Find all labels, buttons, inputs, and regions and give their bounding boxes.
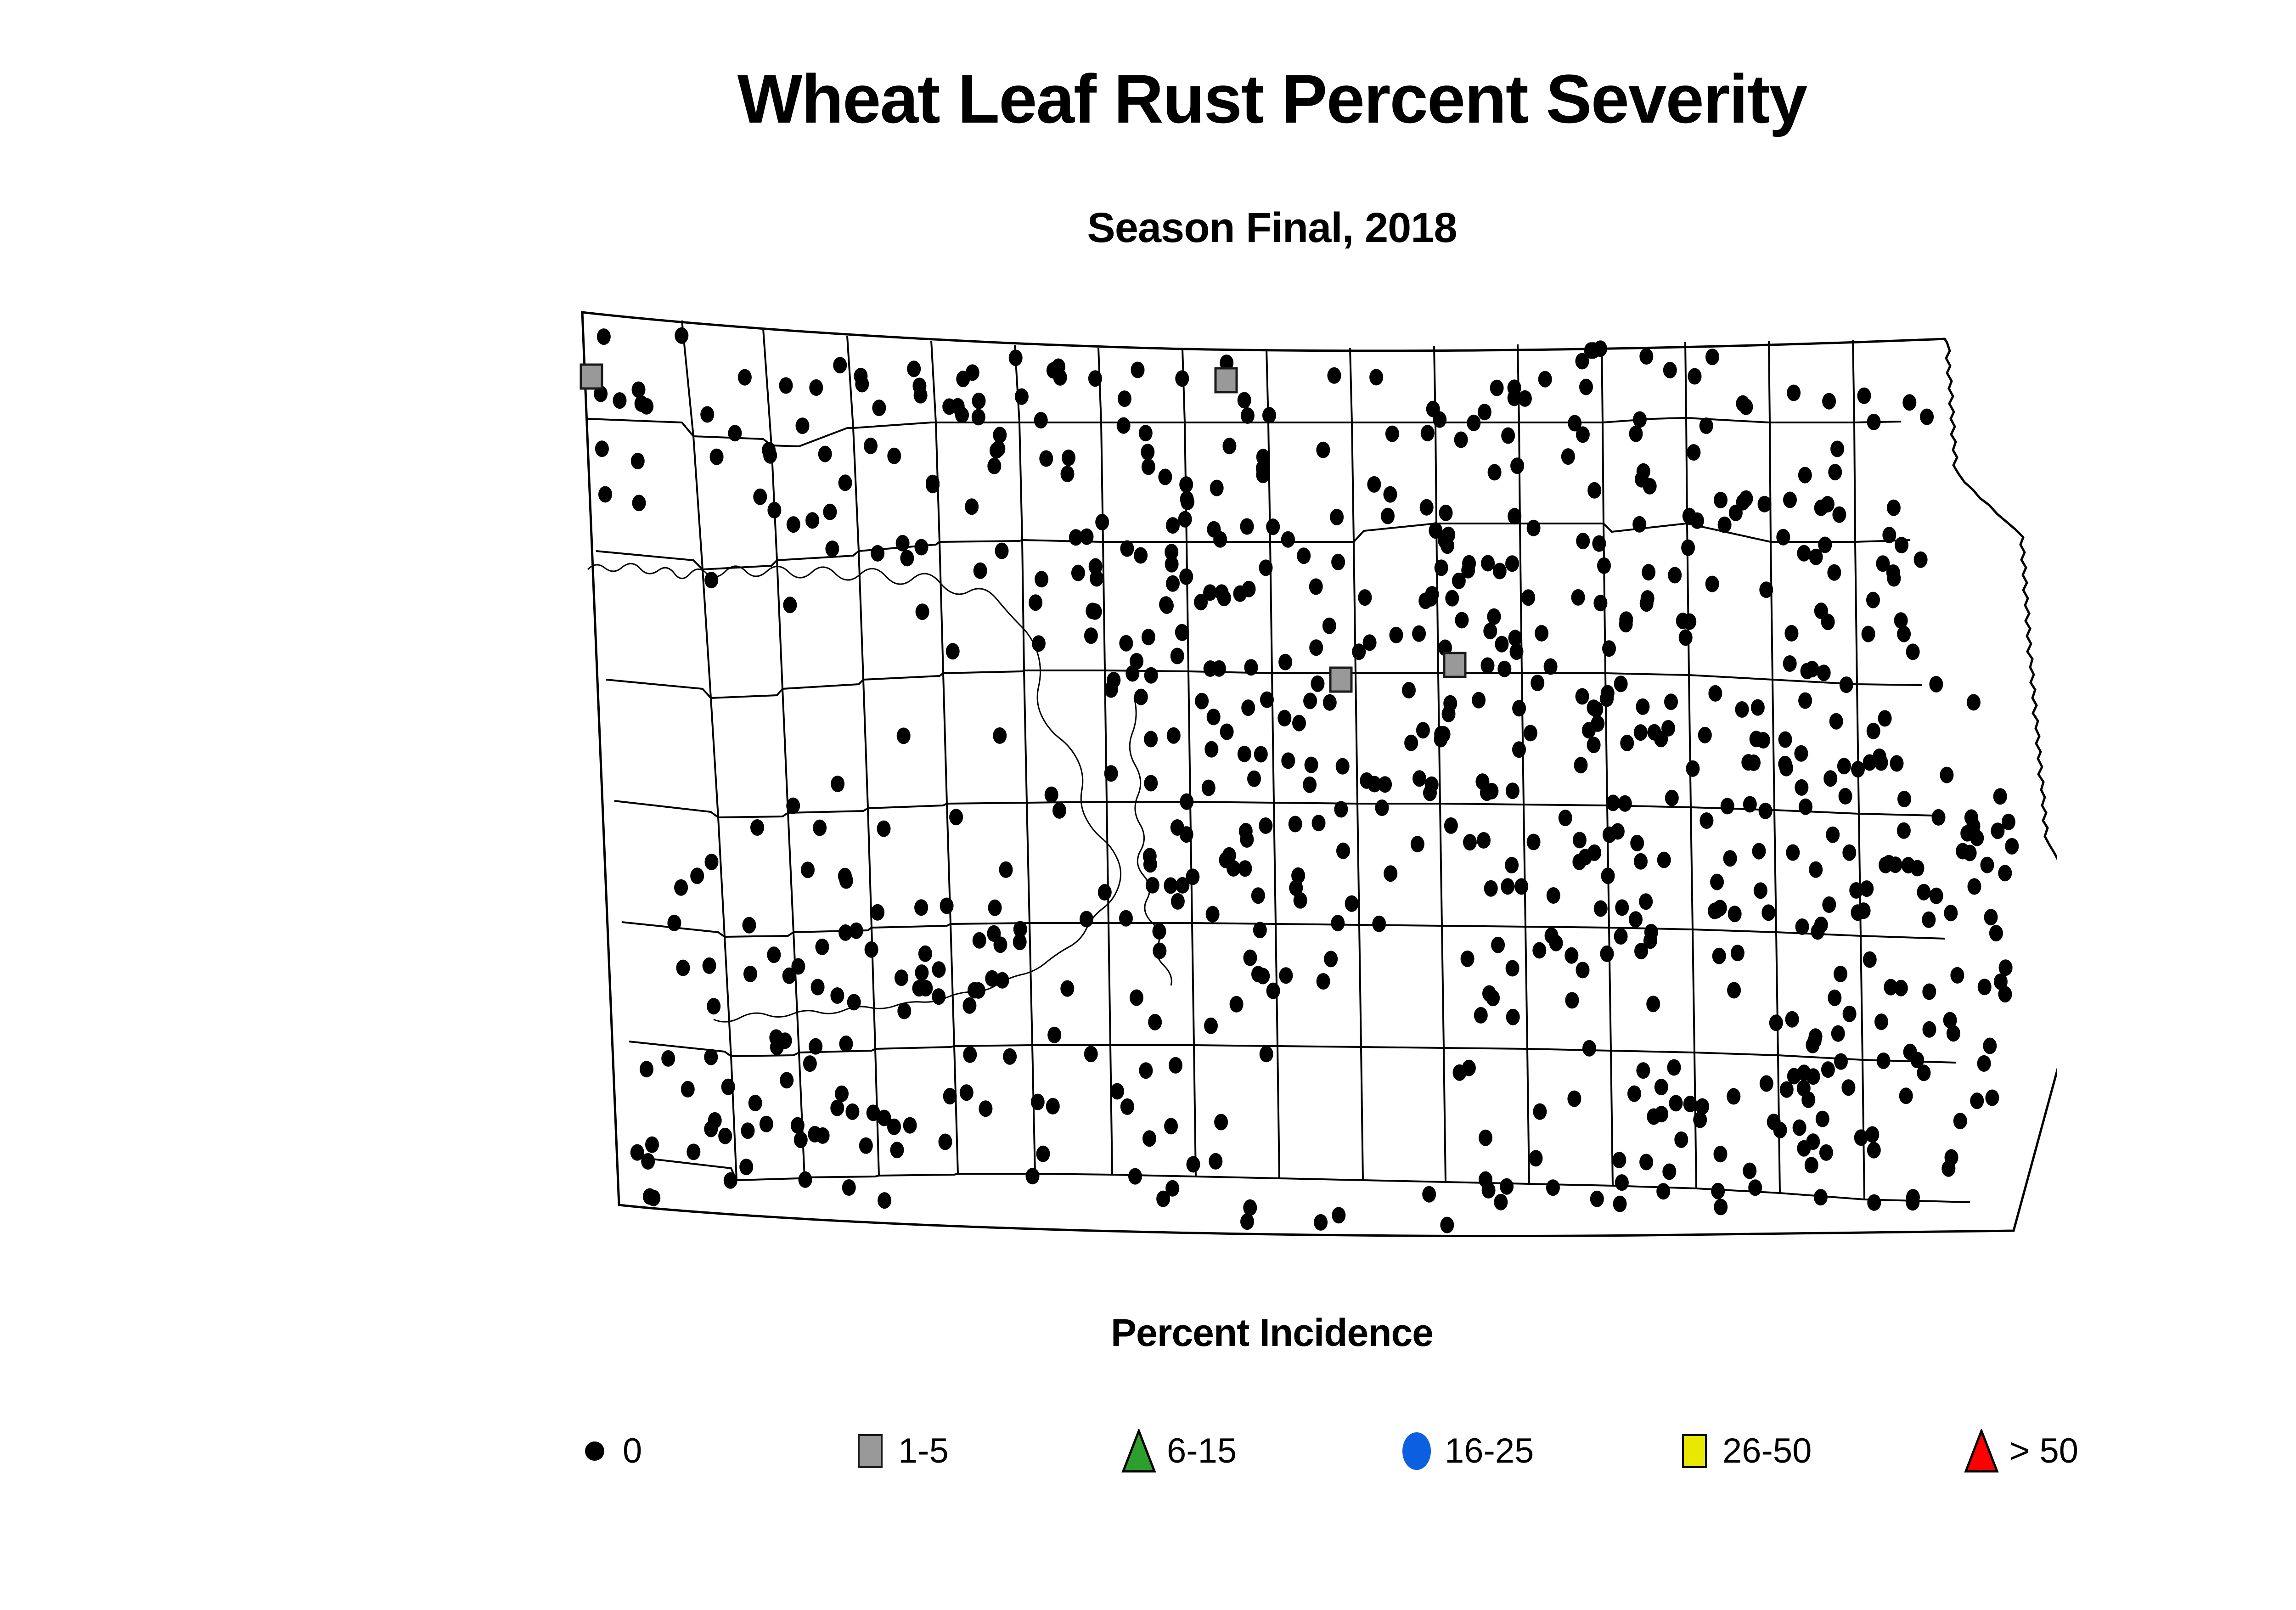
data-point-zero (1559, 810, 1572, 826)
data-point-zero (914, 387, 928, 404)
data-point-zero (1241, 699, 1255, 716)
data-point-zero (1821, 1061, 1835, 1078)
data-point-zero (1834, 1053, 1848, 1070)
data-point-zero (1481, 555, 1495, 572)
data-point-zero (1500, 1178, 1514, 1195)
data-point-zero (973, 932, 986, 949)
data-point-zero (1629, 426, 1643, 442)
data-point-zero (1422, 1186, 1436, 1203)
data-point-zero (1434, 731, 1448, 748)
data-point-zero (1899, 1087, 1913, 1104)
data-point-zero (1521, 589, 1535, 606)
data-point-zero (1627, 1086, 1641, 1102)
data-point-zero (1317, 973, 1330, 990)
data-point-zero (1212, 660, 1226, 677)
data-point-zero (1167, 727, 1181, 744)
data-point-zero (1705, 576, 1719, 592)
data-point-zero (1297, 547, 1311, 564)
data-point-zero (1086, 602, 1099, 619)
data-point-zero (1854, 1129, 1868, 1146)
data-point-zero (1545, 928, 1559, 944)
data-point-zero (791, 958, 805, 975)
data-point-zero (1209, 1153, 1222, 1170)
data-point-zero (632, 495, 646, 511)
data-point-zero (1178, 511, 1192, 528)
data-point-zero (1323, 694, 1337, 711)
data-point-zero (681, 1081, 695, 1098)
data-point-zero (1950, 967, 1964, 984)
data-point-zero (1851, 761, 1865, 777)
data-point-zero (1328, 367, 1341, 384)
data-point-zero (1640, 595, 1654, 612)
data-point-zero (1119, 635, 1133, 652)
data-point-zero (1238, 746, 1251, 762)
data-point-zero (887, 448, 901, 464)
data-point-zero (1303, 777, 1317, 793)
data-point-zero (1906, 1189, 1920, 1205)
data-point-zero (1984, 909, 1998, 925)
data-point-zero (963, 1047, 977, 1063)
data-point-zero (1253, 922, 1267, 938)
data-point-zero (1932, 809, 1946, 826)
data-point-zero (1841, 1079, 1855, 1096)
data-point-zero (1031, 1094, 1045, 1110)
data-point-zero (1472, 692, 1486, 709)
data-point-zero (1731, 945, 1745, 961)
data-point-zero (1587, 482, 1601, 499)
data-point-zero (2002, 814, 2015, 830)
data-point-zero (801, 861, 815, 878)
data-point-zero (767, 502, 781, 518)
data-point-zero (1779, 760, 1793, 777)
data-point-zero (1402, 682, 1416, 698)
data-point-zero (1158, 469, 1172, 485)
data-point-zero (897, 727, 911, 744)
data-point-zero (985, 970, 999, 987)
data-point-zero (1914, 552, 1928, 568)
data-point-zero (1776, 529, 1790, 546)
data-point-zero (1620, 735, 1634, 751)
data-point-zero (1330, 509, 1344, 525)
data-point-zero (1385, 426, 1399, 442)
data-point-zero (1171, 648, 1184, 664)
data-point-zero (595, 440, 609, 457)
data-point-zero (878, 1110, 891, 1126)
data-point-zero (1821, 614, 1835, 630)
data-point-zero (1336, 843, 1350, 859)
data-point-zero (940, 898, 954, 914)
page-subtitle: Season Final, 2018 (0, 207, 2296, 249)
data-point-zero (1482, 1182, 1496, 1199)
data-point-zero (1384, 865, 1397, 882)
data-point-zero (1412, 770, 1426, 787)
data-point-zero (1358, 589, 1372, 606)
data-point-zero (676, 960, 690, 976)
data-point-zero (1711, 1183, 1725, 1199)
data-point-zero (1878, 710, 1892, 726)
data-point-zero (1047, 1027, 1061, 1043)
data-point-zero (1052, 802, 1066, 819)
data-point-zero (1714, 492, 1728, 508)
data-point-zero (1345, 895, 1359, 912)
data-point-zero (675, 327, 688, 344)
data-point-zero (1818, 537, 1832, 553)
data-point-zero (1642, 564, 1655, 580)
data-point-zero (1723, 850, 1737, 867)
legend-symbol-triangle (1961, 1419, 2002, 1483)
data-point-zero (1612, 1152, 1626, 1168)
legend-label: 26-50 (1722, 1434, 1812, 1469)
data-point-zero (1874, 754, 1888, 771)
data-point-zero (1477, 832, 1491, 849)
data-point-1-5 (1216, 368, 1237, 392)
data-point-zero (1705, 349, 1719, 365)
data-point-zero (724, 1172, 737, 1189)
data-point-zero (1708, 685, 1722, 702)
data-point-zero (1281, 752, 1295, 769)
data-point-zero (1882, 527, 1896, 543)
data-point-zero (1098, 884, 1112, 901)
data-point-zero (1930, 888, 1943, 904)
data-point-zero (1281, 531, 1295, 548)
data-point-zero (674, 879, 688, 896)
data-point-zero (918, 946, 932, 962)
data-point-zero (728, 425, 742, 441)
data-point-zero (1533, 1103, 1547, 1120)
data-point-zero (1084, 627, 1098, 644)
data-point-zero (942, 398, 956, 415)
data-point-zero (1686, 760, 1699, 777)
data-point-zero (1943, 1012, 1957, 1029)
data-point-zero (1439, 505, 1453, 521)
data-point-zero (907, 360, 921, 377)
data-point-zero (1665, 790, 1679, 806)
circle-icon (1402, 1432, 1431, 1470)
data-point-zero (632, 382, 646, 398)
data-point-zero (780, 1072, 793, 1088)
data-point-zero (1156, 1191, 1170, 1207)
data-point-zero (1440, 1217, 1454, 1233)
data-point-zero (597, 328, 611, 345)
data-point-zero (974, 563, 987, 579)
data-point-zero (818, 446, 832, 462)
square-icon (858, 1434, 883, 1468)
data-point-zero (965, 498, 979, 515)
legend-item-50[interactable]: > 50 (1961, 1405, 2078, 1497)
data-point-zero (809, 379, 823, 396)
data-point-zero (1636, 698, 1649, 715)
data-point-zero (1508, 379, 1521, 396)
data-point-zero (1998, 986, 2012, 1002)
figure-canvas: Wheat Leaf Rust Percent Severity Season … (0, 0, 2296, 1610)
data-point-zero (1783, 655, 1797, 672)
data-point-zero (1527, 520, 1541, 536)
data-point-zero (1840, 676, 1853, 693)
data-point-zero (667, 915, 681, 931)
legend-item-1-5[interactable]: 1-5 (850, 1405, 949, 1497)
data-point-zero (1567, 1091, 1581, 1107)
data-point-zero (1118, 390, 1131, 407)
data-point-zero (1574, 757, 1588, 773)
data-point-zero (878, 1192, 891, 1209)
data-point-zero (661, 1050, 675, 1067)
data-point-zero (842, 1179, 856, 1196)
data-point-zero (871, 904, 884, 921)
data-point-zero (1512, 741, 1526, 758)
data-point-zero (897, 1003, 911, 1019)
data-point-zero (1884, 979, 1897, 996)
data-point-zero (1634, 724, 1648, 741)
data-point-zero (1601, 685, 1615, 702)
data-point-zero (859, 1137, 873, 1154)
data-point-zero (1518, 390, 1532, 407)
data-point-zero (1754, 882, 1767, 899)
data-point-zero (1571, 589, 1585, 606)
data-point-zero (1309, 578, 1323, 595)
data-point-zero (1416, 722, 1430, 738)
north-dakota-map (542, 285, 2057, 1286)
data-point-zero (1634, 853, 1648, 870)
data-point-zero (949, 809, 963, 825)
data-point-zero (1442, 706, 1456, 722)
data-point-zero (1785, 1011, 1799, 1028)
data-point-zero (1917, 1064, 1930, 1081)
data-point-zero (1266, 983, 1280, 999)
data-point-zero (1964, 809, 1978, 826)
data-point-zero (1615, 1174, 1629, 1191)
data-point-zero (1243, 1199, 1257, 1216)
data-point-zero (1390, 627, 1403, 643)
data-point-zero (1045, 787, 1058, 803)
data-point-zero (1576, 353, 1589, 370)
data-point-zero (877, 821, 891, 837)
data-point-zero (1613, 1196, 1627, 1212)
data-point-zero (1894, 612, 1908, 629)
legend-symbol-square (850, 1419, 891, 1483)
data-point-zero (1047, 362, 1060, 379)
data-point-zero (1799, 799, 1812, 815)
data-point-zero (1902, 394, 1916, 411)
legend-item-26-50[interactable]: 26-50 (1674, 1405, 1812, 1497)
data-point-zero (1532, 942, 1546, 959)
data-point-zero (1128, 1168, 1142, 1185)
data-point-zero (1993, 788, 2007, 805)
data-point-1-5 (581, 365, 602, 388)
data-point-zero (1906, 643, 1920, 660)
data-point-zero (1805, 1157, 1818, 1173)
data-point-zero (1849, 882, 1863, 899)
data-point-zero (811, 979, 825, 996)
data-point-zero (1134, 547, 1148, 564)
data-point-zero (1582, 1040, 1596, 1057)
data-point-zero (1767, 1114, 1781, 1130)
data-point-zero (1712, 948, 1726, 964)
data-point-zero (1120, 1098, 1134, 1115)
data-point-zero (1384, 486, 1397, 503)
data-point-zero (1778, 732, 1792, 748)
data-point-zero (1204, 741, 1218, 758)
data-point-zero (1241, 407, 1255, 424)
data-point-zero (1953, 1113, 1967, 1129)
data-point-zero (1445, 590, 1459, 607)
data-point-zero (1139, 1062, 1153, 1079)
data-point-zero (1060, 980, 1074, 997)
data-point-zero (1071, 565, 1085, 581)
data-point-zero (1564, 947, 1578, 964)
data-point-zero (796, 417, 810, 434)
data-point-zero (1632, 516, 1646, 533)
data-point-zero (1639, 893, 1653, 910)
data-point-zero (1474, 1007, 1488, 1024)
legend-label: 16-25 (1445, 1434, 1534, 1469)
data-point-zero (1215, 584, 1228, 601)
legend-title: Percent Incidence (0, 1313, 2296, 1352)
data-point-zero (1743, 1163, 1756, 1179)
data-point-zero (1879, 857, 1892, 873)
data-point-zero (1648, 724, 1661, 741)
data-point-zero (1828, 990, 1841, 1006)
data-point-zero (1251, 887, 1265, 904)
data-point-zero (1743, 796, 1757, 813)
data-point-zero (1254, 746, 1268, 763)
data-point-zero (1761, 904, 1775, 921)
data-point-zero (805, 512, 819, 529)
legend-item-6-15[interactable]: 6-15 (1118, 1405, 1237, 1497)
data-point-zero (640, 1061, 653, 1077)
data-point-zero (813, 820, 827, 836)
data-point-zero (743, 917, 756, 934)
data-point-zero (1175, 624, 1189, 641)
data-point-1-5 (1330, 668, 1351, 692)
data-point-zero (1491, 937, 1505, 953)
data-point-zero (1592, 535, 1606, 552)
data-point-zero (1144, 775, 1158, 792)
data-point-1-5 (1444, 653, 1465, 677)
data-point-zero (1814, 917, 1828, 933)
data-point-zero (1144, 731, 1158, 748)
data-point-zero (1614, 928, 1628, 945)
data-point-zero (1769, 1014, 1783, 1031)
data-point-zero (999, 861, 1013, 878)
data-point-zero (1512, 700, 1526, 716)
data-point-zero (1488, 464, 1502, 480)
data-point-zero (1710, 902, 1723, 918)
data-point-zero (1643, 932, 1657, 949)
data-point-zero (1968, 878, 1981, 895)
data-point-zero (1062, 450, 1075, 466)
data-point-zero (1485, 783, 1498, 799)
data-point-zero (1662, 1164, 1676, 1180)
data-point-zero (993, 727, 1007, 744)
data-point-zero (1159, 596, 1173, 613)
data-point-zero (707, 998, 720, 1014)
data-point-zero (835, 1086, 849, 1102)
data-point-zero (1816, 1111, 1829, 1127)
data-point-zero (1561, 448, 1575, 465)
data-point-zero (1164, 1118, 1178, 1134)
data-point-zero (1506, 960, 1519, 977)
data-point-zero (1331, 915, 1345, 931)
data-point-zero (1142, 1130, 1156, 1147)
data-point-zero (1842, 844, 1856, 861)
data-point-zero (1294, 892, 1307, 909)
data-point-zero (1664, 693, 1678, 710)
data-point-zero (1829, 713, 1843, 730)
data-point-zero (718, 1128, 732, 1144)
data-point-zero (1483, 623, 1497, 639)
data-point-zero (647, 1190, 660, 1206)
data-point-zero (704, 1049, 718, 1065)
data-point-zero (1412, 625, 1426, 642)
data-point-zero (1827, 564, 1841, 581)
data-point-zero (1834, 966, 1847, 982)
data-point-zero (1334, 801, 1348, 817)
data-point-zero (1646, 996, 1660, 1012)
data-point-zero (1837, 758, 1851, 774)
data-point-zero (1462, 1060, 1476, 1076)
data-point-zero (1760, 1075, 1773, 1092)
data-point-zero (1134, 689, 1148, 705)
data-point-zero (1809, 861, 1823, 878)
data-point-zero (946, 643, 960, 659)
data-point-zero (1748, 1179, 1762, 1196)
data-point-zero (703, 957, 716, 974)
data-point-zero (1266, 518, 1280, 535)
data-point-zero (1363, 634, 1377, 651)
triangle-icon (1121, 1429, 1156, 1473)
data-point-zero (1180, 826, 1193, 843)
data-point-zero (1828, 464, 1842, 480)
data-point-zero (1786, 844, 1800, 861)
data-point-zero (1903, 1044, 1917, 1060)
data-point-zero (1305, 757, 1318, 773)
data-point-zero (1830, 441, 1844, 457)
data-point-zero (1169, 1057, 1182, 1074)
data-point-zero (1721, 798, 1734, 814)
data-point-zero (1180, 794, 1193, 810)
data-point-zero (1467, 415, 1480, 431)
data-point-zero (1311, 676, 1324, 692)
data-point-zero (1478, 404, 1491, 420)
data-point-zero (939, 1134, 952, 1150)
data-point-zero (1741, 754, 1755, 771)
data-point-zero (710, 449, 724, 465)
data-point-zero (1179, 476, 1193, 493)
legend-symbol-circle (1396, 1419, 1437, 1483)
legend-item-16-25[interactable]: 16-25 (1396, 1405, 1534, 1497)
data-point-zero (1967, 694, 1981, 710)
data-point-zero (1143, 848, 1157, 864)
data-point-zero (1455, 612, 1469, 629)
data-point-zero (1278, 654, 1292, 670)
data-point-zero (1501, 878, 1514, 895)
data-point-zero (783, 597, 797, 613)
data-point-zero (1759, 581, 1773, 598)
data-point-zero (1727, 982, 1741, 998)
data-point-zero (1462, 555, 1476, 572)
data-point-zero (1479, 1130, 1492, 1146)
data-point-zero (1036, 1146, 1050, 1162)
data-point-zero (1629, 911, 1643, 928)
data-point-zero (1244, 950, 1257, 966)
data-point-zero (1663, 362, 1677, 378)
data-point-zero (791, 1117, 805, 1134)
legend: 01-56-1516-2526-50> 50 (574, 1405, 2227, 1506)
legend-item-0[interactable]: 0 (574, 1405, 642, 1497)
data-point-zero (1874, 1013, 1888, 1030)
data-point-zero (1676, 613, 1690, 629)
data-point-zero (1593, 595, 1607, 611)
